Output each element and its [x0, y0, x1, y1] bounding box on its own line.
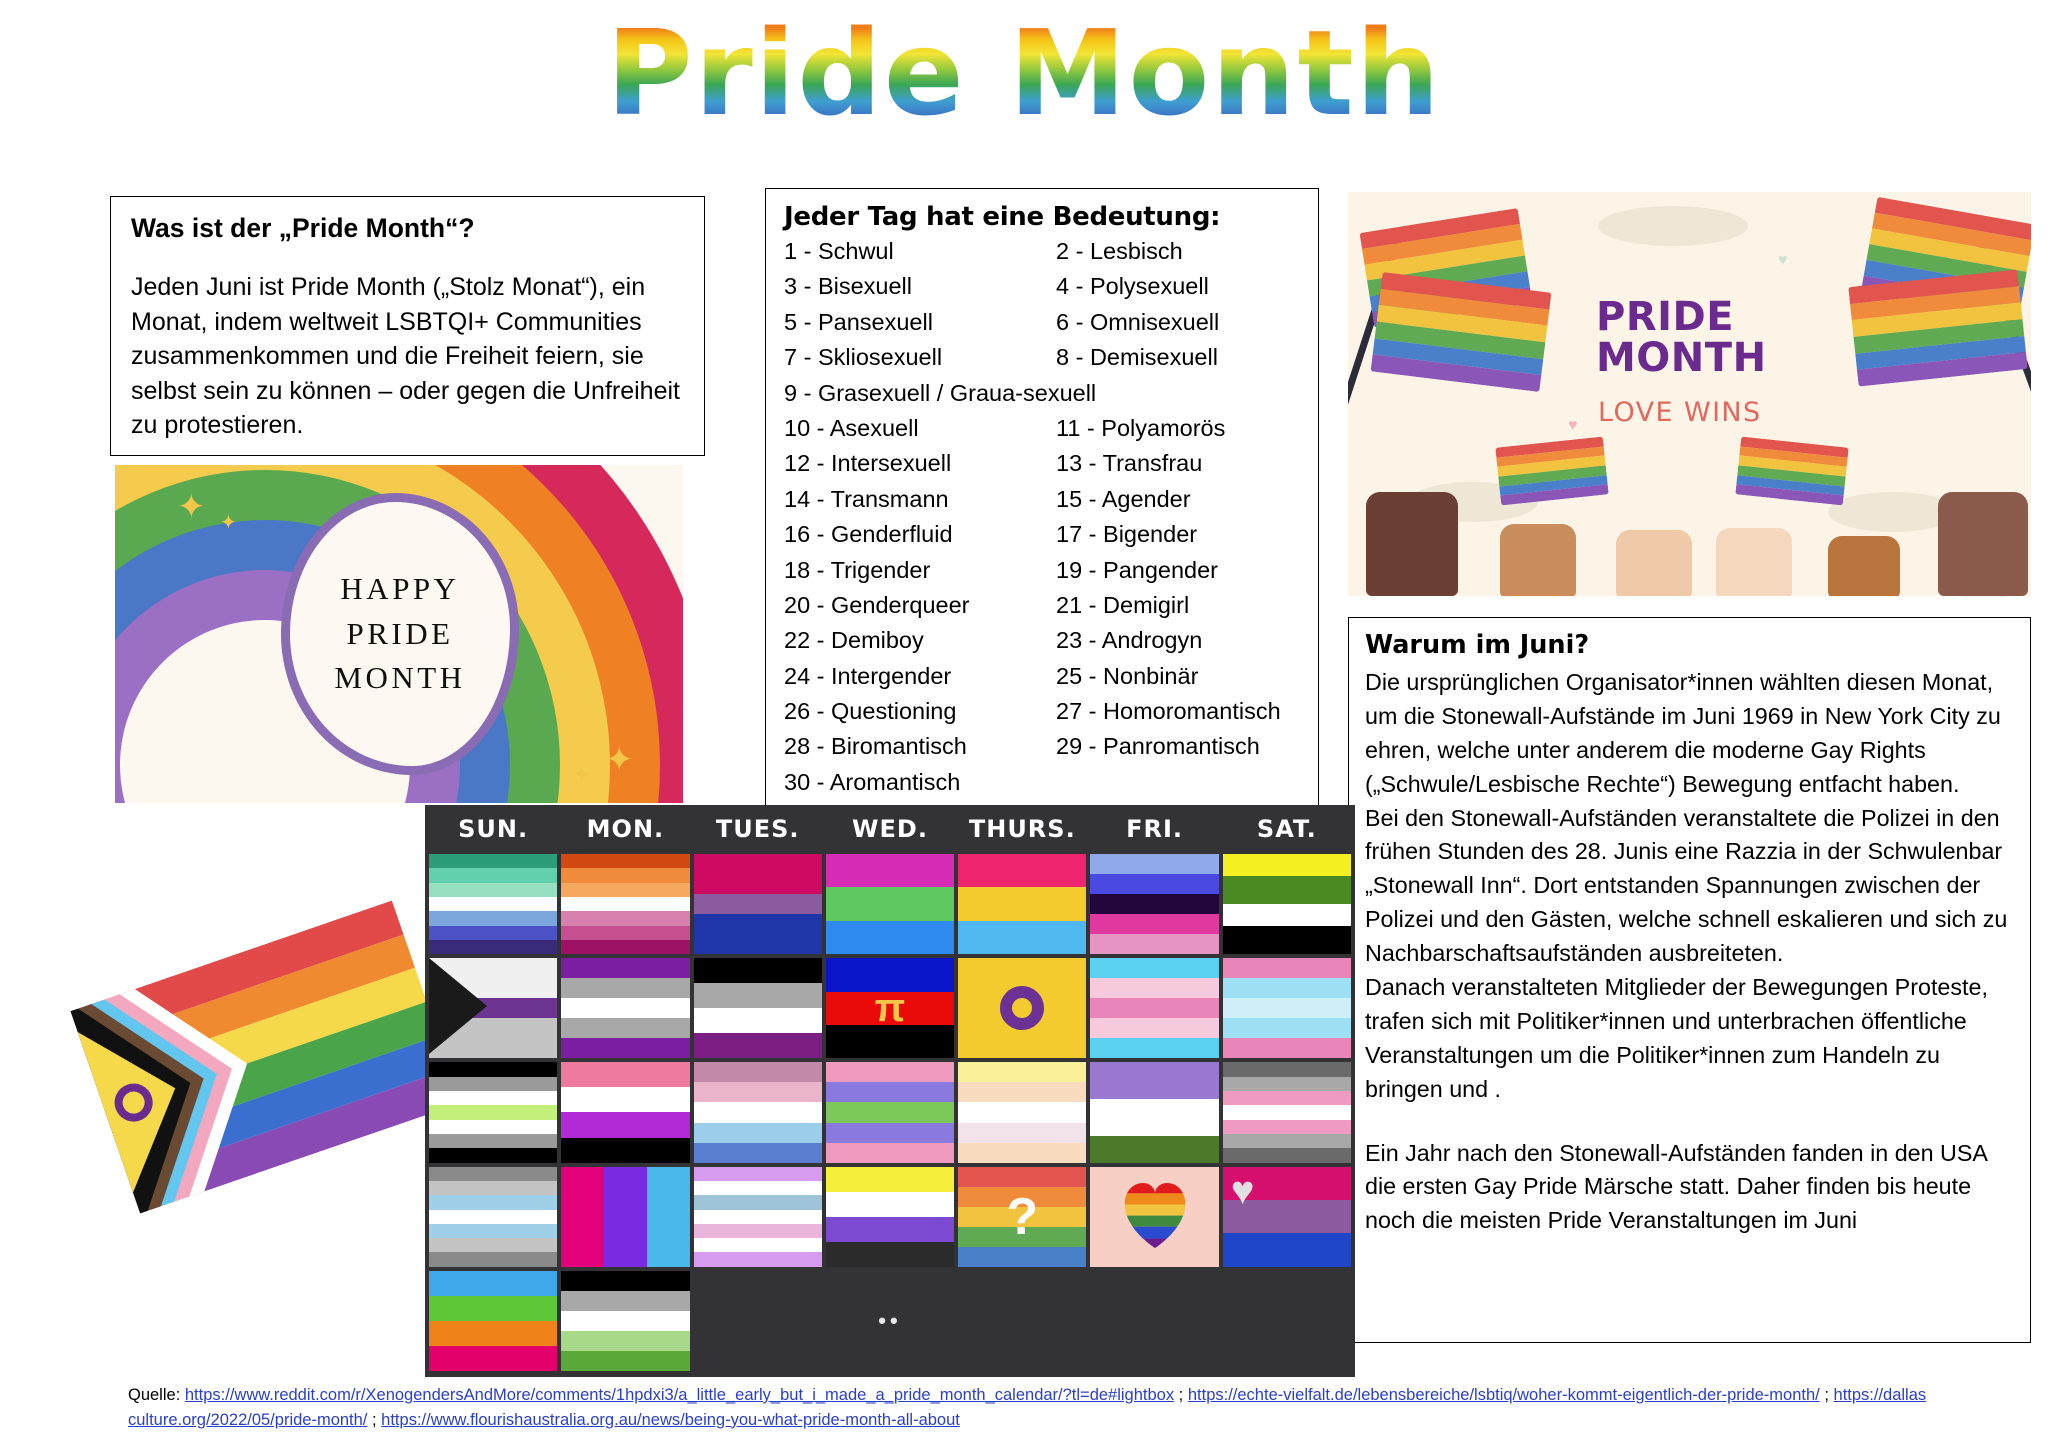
day-entry: 15 - Agender: [1056, 486, 1191, 513]
calendar-cell[interactable]: [561, 854, 689, 954]
day-entry: 22 - Demiboy: [784, 627, 1056, 654]
calendar-header-row: SUN. MON. TUES. WED. THURS. FRI. SAT.: [429, 809, 1351, 850]
raised-fist-icon: [1938, 492, 2028, 596]
happy-line-1: HAPPY: [340, 567, 459, 612]
calendar-cell[interactable]: [694, 1167, 822, 1267]
day-entry: 29 - Panromantisch: [1056, 733, 1260, 760]
pi-icon: π: [826, 958, 954, 1058]
day-entry: 7 - Skliosexuell: [784, 344, 1056, 371]
dots-icon: ••: [826, 1271, 954, 1371]
source-label: Quelle:: [128, 1386, 185, 1404]
day-entry: 19 - Pangender: [1056, 557, 1218, 584]
intersex-ring-icon: [1000, 986, 1044, 1030]
calendar-cell[interactable]: [1223, 1062, 1351, 1162]
page-title: Pride Month: [606, 14, 1442, 132]
calendar-cell[interactable]: [1090, 1167, 1218, 1267]
day-entry: 8 - Demisexuell: [1056, 344, 1218, 371]
weekday-wed: WED.: [826, 809, 954, 850]
heart-icon: ♥: [1223, 1167, 1351, 1267]
why-june-heading: Warum im Juni?: [1365, 630, 2014, 660]
happy-line-2: PRIDE: [346, 612, 453, 657]
day-entry: 20 - Genderqueer: [784, 592, 1056, 619]
calendar-cell[interactable]: [1090, 958, 1218, 1058]
weekday-fri: FRI.: [1090, 809, 1218, 850]
day-row: 24 - Intergender25 - Nonbinär: [784, 663, 1318, 698]
why-june-paragraph-2: Bei den Stonewall-Aufständen veranstalte…: [1365, 802, 2014, 971]
source-footer: Quelle: https://www.reddit.com/r/Xenogen…: [128, 1383, 1928, 1433]
question-mark-icon: ?: [958, 1167, 1086, 1267]
rainbow-flag-icon: [1371, 272, 1552, 392]
raised-fist-icon: [1828, 536, 1900, 596]
day-row: 1 - Schwul2 - Lesbisch: [784, 238, 1318, 273]
day-entry: 18 - Trigender: [784, 557, 1056, 584]
why-june-panel: Warum im Juni? Die ursprünglichen Organi…: [1348, 617, 2031, 1343]
calendar-cell[interactable]: [694, 1062, 822, 1162]
calendar-cell[interactable]: [429, 1167, 557, 1267]
day-row: 18 - Trigender19 - Pangender: [784, 557, 1318, 592]
day-entry: 28 - Biromantisch: [784, 733, 1056, 760]
calendar-cell[interactable]: [1090, 1062, 1218, 1162]
day-entry: 21 - Demigirl: [1056, 592, 1189, 619]
raised-fist-icon: [1616, 530, 1692, 596]
day-entry: 14 - Transmann: [784, 486, 1056, 513]
heart-icon: ♥: [1568, 417, 1578, 435]
day-entry: 23 - Androgyn: [1056, 627, 1202, 654]
day-entry: 13 - Transfrau: [1056, 450, 1202, 477]
calendar-cell[interactable]: [694, 958, 822, 1058]
calendar-cell[interactable]: [958, 1062, 1086, 1162]
weekday-mon: MON.: [561, 809, 689, 850]
calendar-cell[interactable]: [1223, 958, 1351, 1058]
title-banner: Pride Month: [0, 14, 2048, 132]
calendar-grid: π: [429, 854, 1351, 1371]
what-is-body: Jeden Juni ist Pride Month („Stolz Monat…: [131, 270, 684, 443]
sparkle-icon: ✦: [220, 513, 237, 533]
calendar-cell[interactable]: π: [826, 958, 954, 1058]
calendar-cell[interactable]: [958, 958, 1086, 1058]
day-entry: 5 - Pansexuell: [784, 309, 1056, 336]
days-meaning-panel: Jeder Tag hat eine Bedeutung: 1 - Schwul…: [765, 188, 1319, 813]
source-link-flourishaustralia[interactable]: https://www.flourishaustralia.org.au/new…: [381, 1411, 960, 1429]
raised-fist-icon: [1366, 492, 1458, 596]
calendar-cell[interactable]: [429, 1062, 557, 1162]
calendar-cell-empty: [1090, 1271, 1218, 1371]
what-is-pride-month-panel: Was ist der „Pride Month“? Jeden Juni is…: [110, 196, 705, 456]
calendar-cell[interactable]: [694, 854, 822, 954]
day-row: 5 - Pansexuell6 - Omnisexuell: [784, 309, 1318, 344]
source-link-reddit[interactable]: https://www.reddit.com/r/XenogendersAndM…: [185, 1386, 1174, 1404]
day-entry: 26 - Questioning: [784, 698, 1056, 725]
calendar-cell[interactable]: [561, 958, 689, 1058]
what-is-heading: Was ist der „Pride Month“?: [131, 213, 684, 244]
day-row: 10 - Asexuell11 - Polyamorös: [784, 415, 1318, 450]
day-entry: 16 - Genderfluid: [784, 521, 1056, 548]
day-entry: 27 - Homoromantisch: [1056, 698, 1281, 725]
day-entry: 6 - Omnisexuell: [1056, 309, 1219, 336]
sparkle-icon: ✦: [177, 490, 206, 524]
calendar-cell[interactable]: ♥: [1223, 1167, 1351, 1267]
love-title-line1: PRIDE: [1596, 297, 1846, 338]
raised-fist-icon: [1716, 528, 1792, 596]
happy-pride-month-image: ✦ ✦ ✦ ✦ HAPPY PRIDE MONTH: [115, 465, 683, 803]
day-row: 14 - Transmann15 - Agender: [784, 486, 1318, 521]
calendar-cell[interactable]: [429, 854, 557, 954]
source-separator: ;: [1820, 1386, 1834, 1404]
calendar-cell[interactable]: [429, 958, 557, 1058]
day-row: 28 - Biromantisch29 - Panromantisch: [784, 733, 1318, 768]
source-separator: ;: [1174, 1386, 1188, 1404]
calendar-cell[interactable]: [826, 1062, 954, 1162]
calendar-cell[interactable]: [429, 1271, 557, 1371]
day-row: 20 - Genderqueer21 - Demigirl: [784, 592, 1318, 627]
rainbow-flag-icon: [1735, 437, 1848, 506]
calendar-cell[interactable]: [561, 1271, 689, 1371]
sparkle-icon: ✦: [605, 743, 634, 777]
source-link-echte-vielfalt[interactable]: https://echte-vielfalt.de/lebensbereiche…: [1188, 1386, 1820, 1404]
day-row: 7 - Skliosexuell8 - Demisexuell: [784, 344, 1318, 379]
heart-icon: ♥: [1778, 252, 1788, 270]
raised-fist-icon: [1500, 524, 1576, 596]
calendar-cell-empty: [1223, 1271, 1351, 1371]
pride-month-love-wins-image: ♥ ♥ ♥ ♥ PRIDE MONTH LOVE WINS: [1348, 192, 2031, 596]
sparkle-icon: ✦: [573, 765, 590, 785]
day-row: 3 - Bisexuell4 - Polysexuell: [784, 273, 1318, 308]
why-june-paragraph-4: Ein Jahr nach den Stonewall-Aufständen f…: [1365, 1137, 2014, 1239]
love-title-line2: MONTH: [1596, 338, 1846, 379]
pride-calendar: SUN. MON. TUES. WED. THURS. FRI. SAT.: [425, 805, 1355, 1377]
day-entry: 30 - Aromantisch: [784, 769, 960, 796]
day-row: 22 - Demiboy23 - Androgyn: [784, 627, 1318, 662]
day-entry: 17 - Bigender: [1056, 521, 1197, 548]
calendar-cell-empty: ••: [826, 1271, 954, 1371]
why-june-paragraph-3: Danach veranstalteten Mitglieder der Bew…: [1365, 971, 2014, 1107]
source-separator: ;: [367, 1411, 381, 1429]
weekday-sun: SUN.: [429, 809, 557, 850]
rainbow-flag-icon: [1495, 437, 1608, 506]
love-wins-title: PRIDE MONTH: [1596, 297, 1846, 379]
day-row: 12 - Intersexuell13 - Transfrau: [784, 450, 1318, 485]
day-row: 9 - Grasexuell / Graua-sexuell: [784, 380, 1318, 415]
weekday-thurs: THURS.: [958, 809, 1086, 850]
calendar-cell-empty: [694, 1271, 822, 1371]
day-entry: 11 - Polyamorös: [1056, 415, 1225, 442]
calendar-cell[interactable]: [826, 854, 954, 954]
day-entry: 24 - Intergender: [784, 663, 1056, 690]
day-entry: 9 - Grasexuell / Graua-sexuell: [784, 380, 1096, 407]
calendar-cell[interactable]: [826, 1167, 954, 1267]
calendar-cell[interactable]: [561, 1062, 689, 1162]
day-entry: 1 - Schwul: [784, 238, 1056, 265]
love-wins-subtitle: LOVE WINS: [1598, 397, 1858, 428]
day-row: 30 - Aromantisch: [784, 769, 1318, 804]
calendar-cell[interactable]: [561, 1167, 689, 1267]
day-row: 26 - Questioning27 - Homoromantisch: [784, 698, 1318, 733]
progress-pride-flag-image: [70, 900, 461, 1213]
happy-line-3: MONTH: [334, 656, 465, 701]
rainbow-heart-icon: [1118, 1180, 1192, 1250]
calendar-cell[interactable]: ?: [958, 1167, 1086, 1267]
calendar-cell[interactable]: [1223, 854, 1351, 954]
day-entry: 3 - Bisexuell: [784, 273, 1056, 300]
day-entry: 12 - Intersexuell: [784, 450, 1056, 477]
calendar-cell[interactable]: [958, 854, 1086, 954]
rainbow-flag-icon: [1848, 269, 2028, 386]
day-entry: 25 - Nonbinär: [1056, 663, 1198, 690]
day-entry: 10 - Asexuell: [784, 415, 1056, 442]
weekday-sat: SAT.: [1223, 809, 1351, 850]
days-meaning-heading: Jeder Tag hat eine Bedeutung:: [784, 202, 1318, 232]
weekday-tues: TUES.: [694, 809, 822, 850]
why-june-paragraph-1: Die ursprünglichen Organisator*innen wäh…: [1365, 666, 2014, 802]
calendar-cell-empty: [958, 1271, 1086, 1371]
day-entry: 2 - Lesbisch: [1056, 238, 1183, 265]
days-list: 1 - Schwul2 - Lesbisch 3 - Bisexuell4 - …: [784, 238, 1318, 804]
day-entry: 4 - Polysexuell: [1056, 273, 1209, 300]
calendar-cell[interactable]: [1090, 854, 1218, 954]
day-row: 16 - Genderfluid17 - Bigender: [784, 521, 1318, 556]
